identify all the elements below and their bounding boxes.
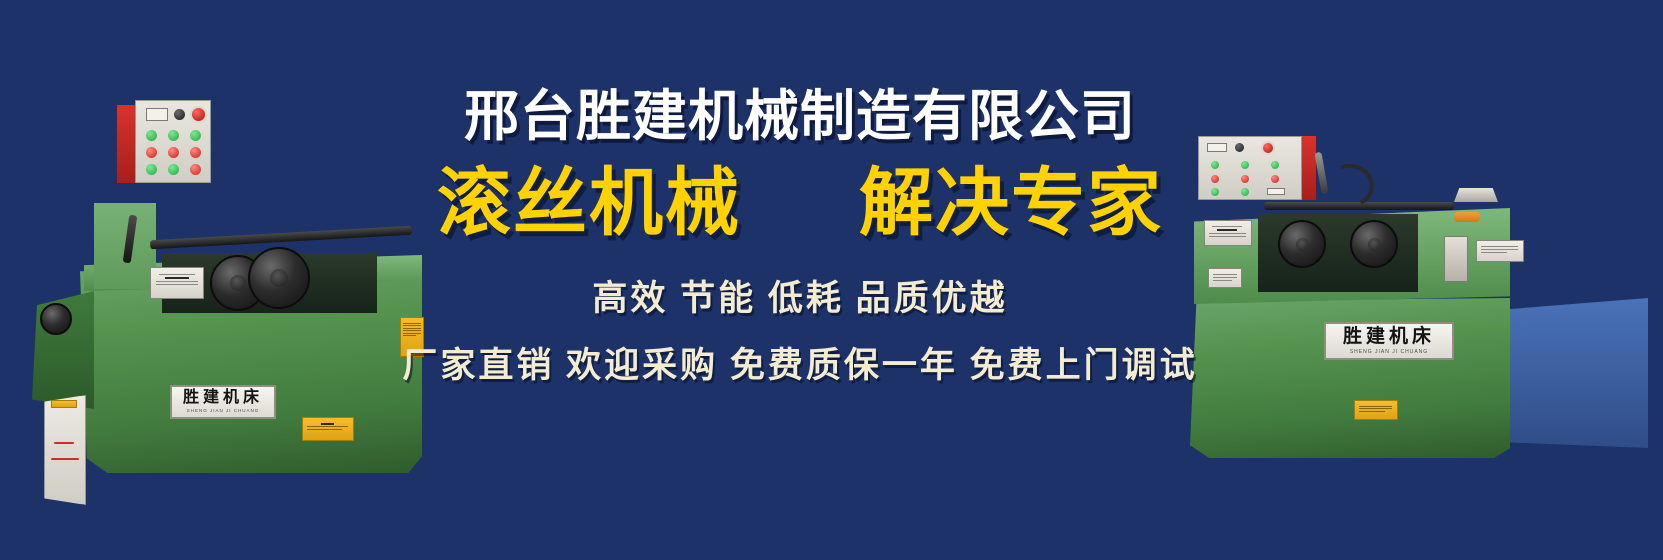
- machine-left-button-3[interactable]: [190, 130, 201, 141]
- machine-right-cable: [1314, 152, 1328, 195]
- headline-row: 滚丝机械 解决专家: [400, 166, 1200, 240]
- machine-left-warning-plate: [302, 417, 354, 441]
- machine-right-control-panel: [1198, 136, 1302, 200]
- machine-right-panel-backing: [1300, 136, 1316, 200]
- machine-right-panel-display: [1207, 143, 1227, 152]
- machine-right-emergency-stop[interactable]: [1261, 141, 1275, 155]
- machine-right-roller-1-hub: [1296, 238, 1309, 251]
- machine-right-brand-en: SHENG JIAN JI CHUANG: [1350, 350, 1428, 355]
- machine-left-cabinet-text-1: [54, 442, 74, 444]
- machine-right-brand-plate: 胜建机床 SHENG JIAN JI CHUANG: [1324, 322, 1454, 360]
- machine-left-brand-plate: 胜建机床 SHENG JIAN JI CHUANG: [170, 385, 276, 419]
- machine-left-shaft: [150, 226, 412, 250]
- machine-left-roller-3: [40, 303, 72, 335]
- machine-right-brand-cn: 胜建机床: [1343, 327, 1435, 346]
- machine-right-warning-plate: [1354, 400, 1398, 420]
- machine-left-roller-2-hub: [270, 269, 288, 287]
- machine-left-button-7[interactable]: [146, 164, 157, 175]
- machine-right-roller-2-hub: [1368, 238, 1381, 251]
- machine-right-button-5[interactable]: [1241, 175, 1249, 183]
- machine-left-button-2[interactable]: [168, 130, 179, 141]
- machine-left-image: 胜建机床 SHENG JIAN JI CHUANG: [22, 95, 422, 475]
- machine-left-panel-knob: [174, 109, 185, 120]
- machine-left-brand-cn: 胜建机床: [183, 390, 263, 406]
- machine-left-brand-en: SHENG JIAN JI CHUANG: [187, 409, 260, 414]
- machine-right-button-8[interactable]: [1241, 188, 1249, 196]
- machine-left-electrical-cabinet: [44, 395, 86, 505]
- machine-right-feeder-tray: [1454, 188, 1498, 202]
- machine-right-blue-stand: [1498, 298, 1648, 448]
- machine-left-cabinet-text-2: [51, 458, 79, 460]
- machine-right-button-4[interactable]: [1211, 175, 1219, 183]
- machine-right-button-7[interactable]: [1211, 188, 1219, 196]
- banner-copy: 邢台胜建机械制造有限公司 滚丝机械 解决专家 高效 节能 低耗 品质优越 厂家直…: [400, 88, 1200, 388]
- machine-right-connector-block: [1454, 212, 1480, 222]
- headline-left: 滚丝机械: [437, 166, 741, 240]
- machine-left-button-1[interactable]: [146, 130, 157, 141]
- machine-left-button-8[interactable]: [168, 164, 179, 175]
- machine-right-button-2[interactable]: [1241, 161, 1249, 169]
- machine-left-roller-1-hub: [230, 275, 246, 291]
- machine-right-image: 胜建机床 SHENG JIAN JI CHUANG: [1168, 128, 1648, 458]
- machine-left-button-9[interactable]: [190, 164, 201, 175]
- machine-right-button-3[interactable]: [1271, 161, 1279, 169]
- machine-right-button-6[interactable]: [1271, 175, 1279, 183]
- machine-right-button-1[interactable]: [1211, 161, 1219, 169]
- machine-right-side-plate: [1476, 240, 1524, 262]
- machine-left-emergency-stop[interactable]: [190, 106, 207, 123]
- machine-left-cabinet-label: [51, 400, 77, 408]
- tagline-line-1: 高效 节能 低耗 品质优越: [400, 270, 1200, 321]
- machine-right-panel-knob: [1235, 143, 1244, 152]
- machine-left-button-5[interactable]: [168, 147, 179, 158]
- machine-left-panel-display: [146, 108, 168, 121]
- machine-left-control-panel: [135, 100, 211, 183]
- machine-right-spec-plate-2: [1208, 268, 1242, 288]
- machine-right-feeder-unit: [1444, 236, 1468, 282]
- machine-left-button-6[interactable]: [190, 147, 201, 158]
- machine-right-spec-plate: [1204, 220, 1252, 246]
- machine-right-panel-gauge: [1267, 188, 1285, 195]
- machine-left-button-4[interactable]: [146, 147, 157, 158]
- machine-left-spec-plate: [150, 267, 204, 299]
- tagline-line-2: 厂家直销 欢迎采购 免费质保一年 免费上门调试: [400, 337, 1200, 388]
- headline-right: 解决专家: [859, 166, 1163, 240]
- promo-banner: 胜建机床 SHENG JIAN JI CHUANG 邢台胜建机械制造有限公司: [0, 0, 1663, 560]
- company-name: 邢台胜建机械制造有限公司: [400, 88, 1200, 146]
